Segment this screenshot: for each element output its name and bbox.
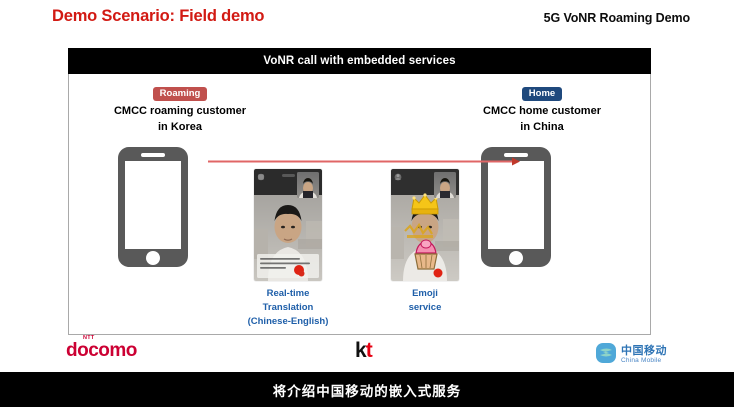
china-mobile-name-en: China Mobile <box>621 358 667 365</box>
translation-caption-line3: (Chinese-English) <box>245 315 331 329</box>
translation-screenshot <box>254 169 322 281</box>
diagram-panel: VoNR call with embedded services Roaming… <box>68 48 651 335</box>
smartphone-icon <box>116 145 190 274</box>
kt-letter-t: t <box>366 339 372 362</box>
translation-caption-line1: Real-time <box>245 287 331 301</box>
carrier-logo-strip: NTT docomo kt 中国移动 China Mobile <box>0 336 734 372</box>
emoji-screenshot <box>391 169 459 281</box>
emoji-caption-line1: Emoji <box>382 287 468 301</box>
service-real-time-translation: Real-time Translation (Chinese-English) <box>245 169 331 328</box>
endpoint-roaming-line1: CMCC roaming customer <box>75 104 285 120</box>
service-emoji: Emoji service <box>382 169 468 315</box>
translation-caption-line2: Translation <box>245 301 331 315</box>
endpoint-roaming-line2: in Korea <box>75 120 285 136</box>
china-mobile-swirl-icon <box>595 342 617 369</box>
kt-logo: kt <box>355 339 372 363</box>
docomo-logo: NTT docomo <box>66 340 137 362</box>
endpoint-home: Home CMCC home customer in China <box>437 83 647 136</box>
kt-letter-k: k <box>355 339 366 362</box>
status-badge-home: Home <box>522 87 562 101</box>
subtitle-bar: 将介绍中国移动的嵌入式服务 <box>0 372 734 407</box>
page-title: Demo Scenario: Field demo <box>52 7 264 26</box>
panel-header: VoNR call with embedded services <box>68 48 651 74</box>
docomo-wordmark: docomo <box>66 340 137 361</box>
docomo-ntt-mark: NTT <box>83 335 95 341</box>
call-flow-arrow <box>208 153 520 162</box>
endpoint-roaming: Roaming CMCC roaming customer in Korea <box>75 83 285 136</box>
emoji-caption-line2: service <box>382 301 468 315</box>
china-mobile-logo: 中国移动 China Mobile <box>595 342 667 369</box>
endpoint-home-line1: CMCC home customer <box>437 104 647 120</box>
endpoint-home-line2: in China <box>437 120 647 136</box>
slide-subtitle: 5G VoNR Roaming Demo <box>544 11 690 25</box>
status-badge-roaming: Roaming <box>153 87 208 101</box>
